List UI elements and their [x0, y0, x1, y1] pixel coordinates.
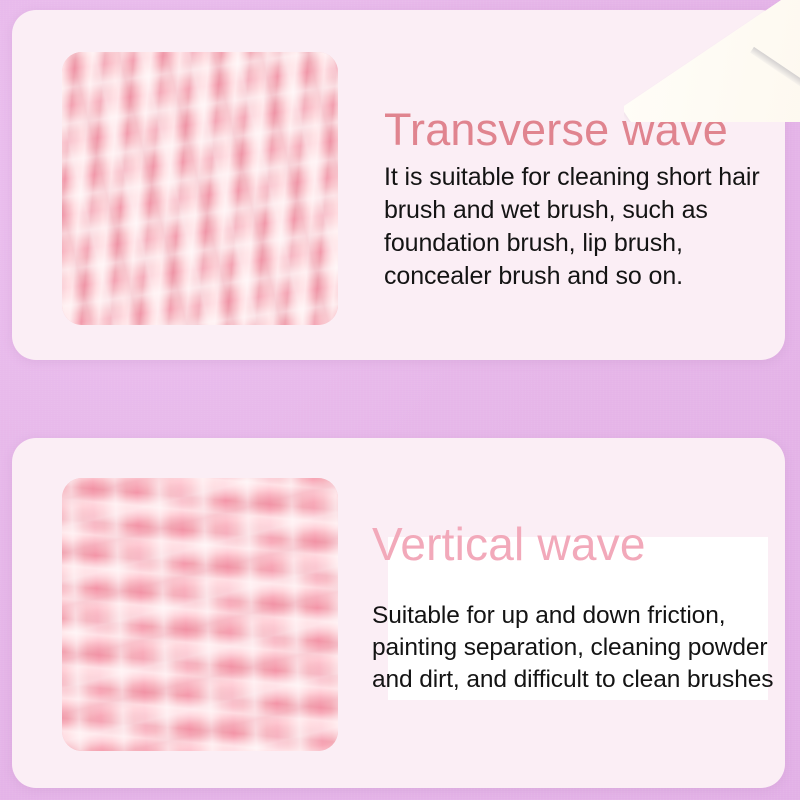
- panel-body-transverse: It is suitable for cleaning short hair b…: [384, 161, 767, 293]
- panel-body-vertical: Suitable for up and down friction, paint…: [372, 600, 782, 696]
- panel-heading-vertical: Vertical wave: [372, 520, 782, 570]
- vertical-wave-silicone-texture: [62, 478, 338, 751]
- transverse-wave-silicone-texture: [62, 52, 338, 325]
- texture-tile-vertical: [62, 478, 338, 751]
- texture-tile-transverse: [62, 52, 338, 325]
- panel-heading-transverse: Transverse wave: [384, 106, 767, 155]
- text-block-vertical: Vertical wave Suitable for up and down f…: [372, 520, 782, 696]
- panel-card-transverse: Transverse wave It is suitable for clean…: [12, 10, 785, 360]
- text-block-transverse: Transverse wave It is suitable for clean…: [384, 106, 767, 293]
